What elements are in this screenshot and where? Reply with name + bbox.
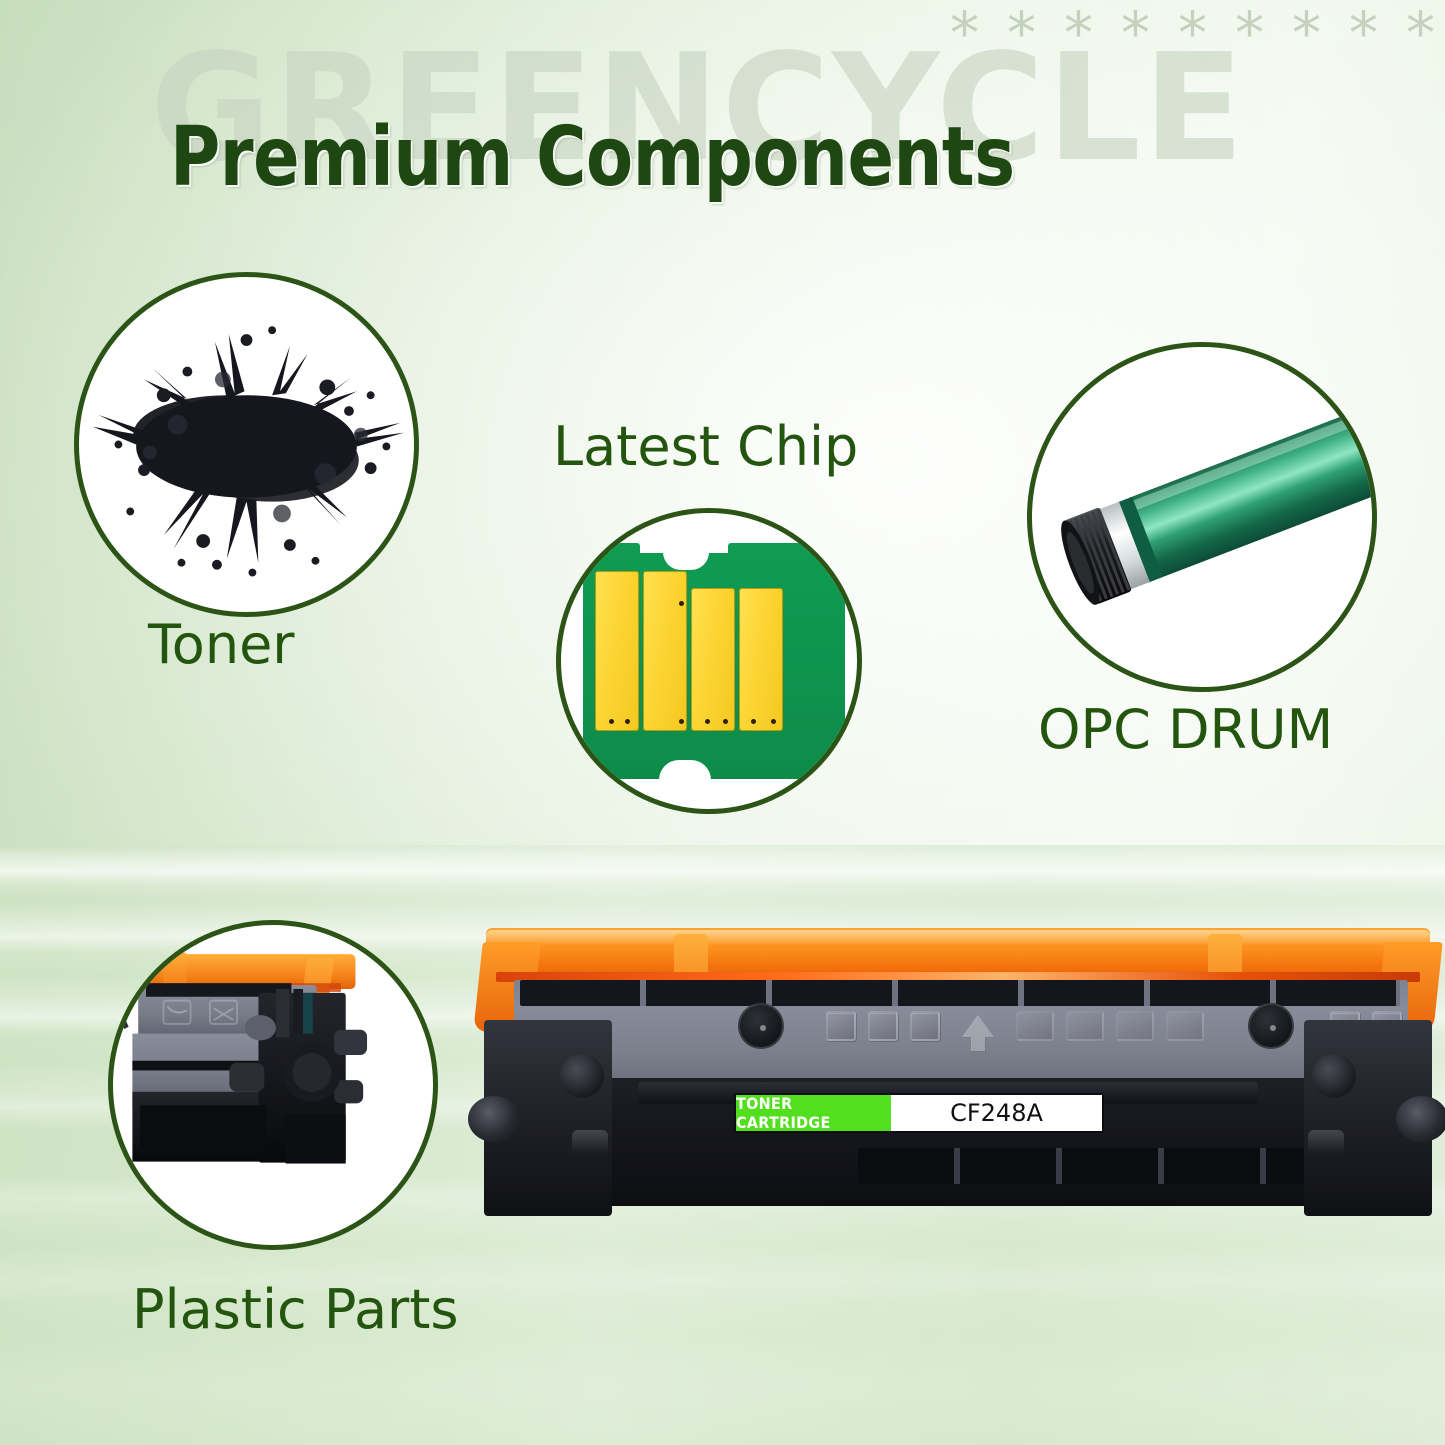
feature-caption-opc-drum: OPC DRUM: [1038, 703, 1333, 757]
product-infographic: GREENCYCLE * * * * * * * * * Premium Com…: [0, 0, 1445, 1445]
feature-caption-chip: Latest Chip: [553, 420, 858, 474]
handle-highlight: [486, 930, 1430, 946]
feature-caption-plastic-parts: Plastic Parts: [132, 1283, 459, 1337]
warning-icon-2: [868, 1011, 898, 1041]
asterisk-decoration: * * * * * * * * *: [950, 4, 1435, 62]
label-model: CF248A: [891, 1095, 1102, 1131]
warning-icon-1: [826, 1011, 856, 1041]
product-label: TONER CARTRIDGE CF248A: [734, 1093, 1104, 1133]
opc-drum-cylinder-icon: [1032, 347, 1372, 687]
toner-cartridge-product: TONER CARTRIDGE CF248A: [478, 928, 1438, 1238]
page-title: Premium Components: [170, 117, 1015, 199]
warning-icon-3: [910, 1011, 940, 1041]
asterisk-icon: *: [1121, 4, 1150, 62]
asterisk-icon: *: [950, 4, 979, 62]
feature-circle-opc-drum: [1027, 342, 1377, 692]
asterisk-icon: *: [1007, 4, 1036, 62]
feature-circle-chip: [556, 508, 862, 814]
asterisk-icon: *: [1178, 4, 1207, 62]
asterisk-icon: *: [1292, 4, 1321, 62]
asterisk-icon: *: [1064, 4, 1093, 62]
cartridge-knob-left: [468, 1096, 520, 1142]
feature-caption-toner: Toner: [148, 618, 295, 672]
asterisk-icon: *: [1406, 4, 1435, 62]
feature-circle-plastic-parts: [108, 920, 438, 1250]
cartridge-lower-vents: [858, 1148, 1338, 1184]
pcb-chip-icon: [583, 553, 845, 779]
faint-icon-4: [1166, 1011, 1204, 1041]
faint-icon-3: [1116, 1011, 1154, 1041]
feature-circle-toner: [74, 272, 419, 617]
asterisk-icon: *: [1235, 4, 1264, 62]
cartridge-care-icons: [738, 1003, 1402, 1049]
cartridge-endcap-icon: [113, 925, 433, 1245]
recycle-circle-icon: [738, 1003, 784, 1049]
up-arrow-icon: [962, 1015, 994, 1037]
faint-icon-1: [1016, 1011, 1054, 1041]
faint-icon-2: [1066, 1011, 1104, 1041]
toner-powder-splatter-icon: [79, 277, 414, 612]
recycle-circle-icon-right: [1248, 1003, 1294, 1049]
cartridge-knob-right: [1396, 1096, 1445, 1142]
label-badge: TONER CARTRIDGE: [736, 1095, 891, 1131]
asterisk-icon: *: [1349, 4, 1378, 62]
